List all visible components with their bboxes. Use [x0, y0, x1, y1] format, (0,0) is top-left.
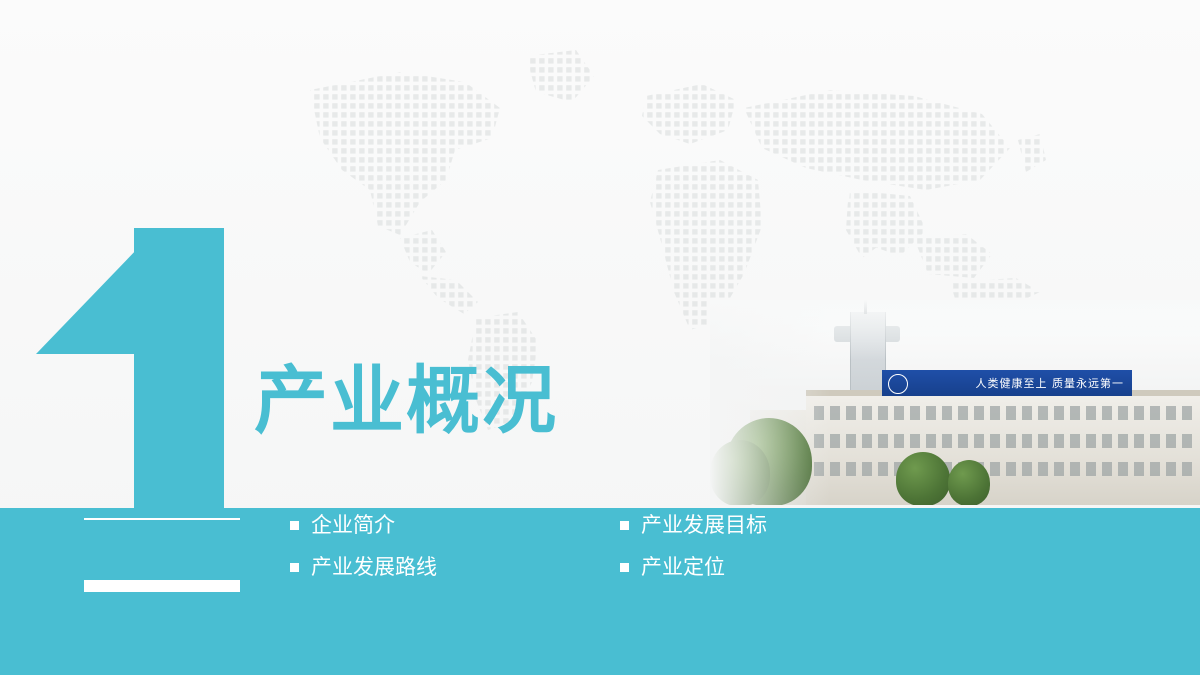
list-item-label: 产业发展路线: [311, 557, 437, 578]
window: [942, 406, 952, 420]
window: [846, 462, 856, 476]
window: [1022, 462, 1032, 476]
signboard: 人类健康至上 质量永远第一: [882, 370, 1132, 396]
window: [1022, 434, 1032, 448]
list-item-label: 企业简介: [311, 515, 395, 536]
numeral-base: [66, 520, 258, 580]
company-logo-icon: [888, 374, 908, 394]
main-facade: [806, 396, 1200, 505]
window: [846, 406, 856, 420]
window: [1102, 434, 1112, 448]
company-building-photo: 人类健康至上 质量永远第一: [710, 300, 1200, 505]
window: [1150, 406, 1160, 420]
tree: [948, 460, 990, 505]
window: [1054, 462, 1064, 476]
window: [878, 462, 888, 476]
window: [958, 434, 968, 448]
window: [1022, 406, 1032, 420]
window-row: [806, 462, 1200, 476]
window: [1134, 406, 1144, 420]
window: [1118, 462, 1128, 476]
window: [926, 434, 936, 448]
window: [1166, 462, 1176, 476]
window: [894, 406, 904, 420]
window: [830, 406, 840, 420]
photo-top-fade: [710, 300, 1200, 360]
window: [1070, 406, 1080, 420]
bullet-square-icon: [620, 563, 629, 572]
window: [1070, 462, 1080, 476]
window: [1150, 462, 1160, 476]
page-title: 产业概况: [254, 364, 558, 438]
window: [990, 406, 1000, 420]
list-item-label: 产业发展目标: [641, 515, 767, 536]
window: [1134, 462, 1144, 476]
window: [1038, 462, 1048, 476]
window-row: [806, 406, 1200, 420]
list-item-label: 产业定位: [641, 557, 725, 578]
window: [1038, 434, 1048, 448]
window: [846, 434, 856, 448]
bullet-square-icon: [290, 563, 299, 572]
window: [1182, 406, 1192, 420]
window: [910, 406, 920, 420]
bullet-list: 企业简介 产业发展目标 产业发展路线 产业定位: [290, 504, 930, 588]
window: [1054, 434, 1064, 448]
section-number-graphic: [36, 228, 258, 580]
list-item[interactable]: 产业发展目标: [620, 504, 950, 546]
window: [862, 462, 872, 476]
window: [830, 434, 840, 448]
window: [974, 406, 984, 420]
window: [958, 406, 968, 420]
bullet-square-icon: [290, 521, 299, 530]
numeral-flag: [36, 246, 140, 354]
slide-root: 人类健康至上 质量永远第一 产业概况: [0, 0, 1200, 675]
window-row: [806, 434, 1200, 448]
window: [990, 462, 1000, 476]
window: [862, 406, 872, 420]
window: [894, 434, 904, 448]
window: [1150, 434, 1160, 448]
window: [1038, 406, 1048, 420]
window: [926, 406, 936, 420]
window: [1166, 406, 1176, 420]
list-item[interactable]: 产业定位: [620, 546, 950, 588]
window: [1086, 434, 1096, 448]
signboard-text: 人类健康至上 质量永远第一: [976, 375, 1125, 391]
window: [1006, 434, 1016, 448]
window: [1070, 434, 1080, 448]
window: [830, 462, 840, 476]
window: [1166, 434, 1176, 448]
window: [1054, 406, 1064, 420]
window: [1086, 406, 1096, 420]
window: [878, 406, 888, 420]
window: [1006, 406, 1016, 420]
window: [1086, 462, 1096, 476]
window: [1118, 406, 1128, 420]
window: [1182, 434, 1192, 448]
window: [1006, 462, 1016, 476]
tree: [896, 452, 950, 505]
window: [990, 434, 1000, 448]
window: [1102, 462, 1112, 476]
window: [1102, 406, 1112, 420]
window: [974, 434, 984, 448]
list-item[interactable]: 产业发展路线: [290, 546, 620, 588]
list-item[interactable]: 企业简介: [290, 504, 620, 546]
window: [1182, 462, 1192, 476]
window: [862, 434, 872, 448]
window: [942, 434, 952, 448]
window: [1134, 434, 1144, 448]
window: [1118, 434, 1128, 448]
window: [910, 434, 920, 448]
bullet-square-icon: [620, 521, 629, 530]
window: [878, 434, 888, 448]
